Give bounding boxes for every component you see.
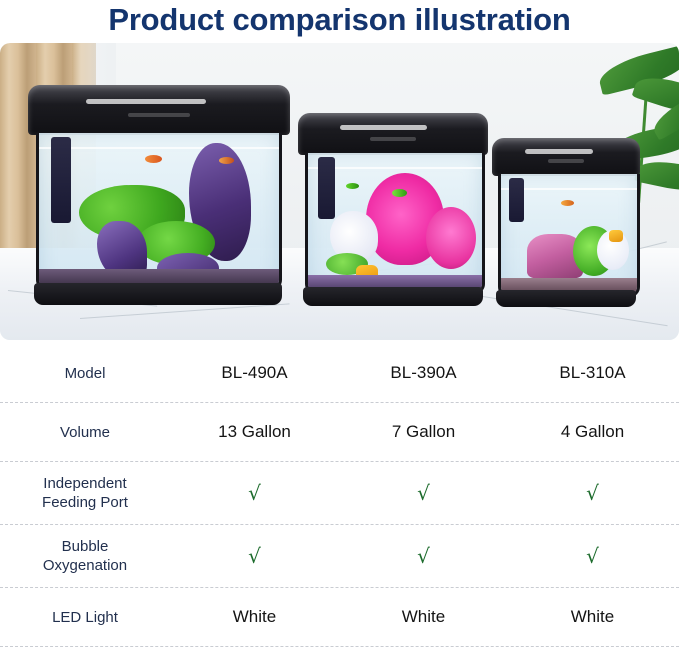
row-label-model: Model — [0, 364, 170, 383]
cell-feeding-port-bl-390a: √ — [339, 481, 508, 505]
tank-filter-pump — [509, 178, 524, 222]
lid-light-glint — [86, 99, 207, 104]
cell-volume-bl-390a: 7 Gallon — [339, 422, 508, 442]
product-comparison-page: Product comparison illustration — [0, 0, 679, 647]
row-label-line-1: Independent — [0, 474, 170, 493]
lid-handle — [128, 113, 191, 117]
tank-lid — [492, 138, 640, 176]
row-label-led-light: LED Light — [0, 608, 170, 627]
lid-light-glint — [525, 149, 593, 154]
tank-filter-pump — [318, 157, 335, 219]
row-label-independent-feeding-port: Independent Feeding Port — [0, 474, 170, 512]
row-label-line-2: Oxygenation — [0, 556, 170, 575]
tank-lid — [298, 113, 488, 155]
cell-bubble-oxygenation-bl-490a: √ — [170, 544, 339, 568]
row-label-bubble-oxygenation: Bubble Oxygenation — [0, 537, 170, 575]
tank-decor-starfish-icon — [609, 230, 623, 242]
tank-fish-icon — [346, 183, 359, 189]
table-row: LED Light White White White — [0, 588, 679, 647]
cell-led-light-bl-310a: White — [508, 607, 677, 627]
cell-bubble-oxygenation-bl-390a: √ — [339, 544, 508, 568]
lid-handle — [548, 159, 584, 163]
water-surface-line — [39, 147, 279, 149]
page-title: Product comparison illustration — [0, 0, 679, 43]
tank-glass — [36, 133, 282, 290]
cell-volume-bl-490a: 13 Gallon — [170, 422, 339, 442]
tank-lid — [28, 85, 290, 135]
row-label-volume: Volume — [0, 423, 170, 442]
tank-decor-pink-coral — [426, 207, 476, 269]
cell-led-light-bl-390a: White — [339, 607, 508, 627]
tank-base — [303, 287, 483, 306]
medium-aquarium-bl-390a — [298, 113, 488, 309]
cell-model-bl-490a: BL-490A — [170, 363, 339, 383]
row-label-line-2: Feeding Port — [0, 493, 170, 512]
tank-base — [34, 283, 282, 305]
table-row: Model BL-490A BL-390A BL-310A — [0, 344, 679, 403]
row-label-line-1: Bubble — [0, 537, 170, 556]
cell-bubble-oxygenation-bl-310a: √ — [508, 544, 677, 568]
tank-fish-icon — [561, 200, 574, 206]
table-row: Bubble Oxygenation √ √ √ — [0, 525, 679, 588]
cell-model-bl-310a: BL-310A — [508, 363, 677, 383]
tank-glass — [305, 153, 485, 294]
cell-volume-bl-310a: 4 Gallon — [508, 422, 677, 442]
spec-comparison-table: Model BL-490A BL-390A BL-310A Volume 13 … — [0, 344, 679, 647]
cell-feeding-port-bl-310a: √ — [508, 481, 677, 505]
large-aquarium-bl-490a — [28, 85, 290, 309]
cell-led-light-bl-490a: White — [170, 607, 339, 627]
product-photo: BL-490A BL-390A — [0, 43, 679, 340]
lid-handle — [370, 137, 416, 141]
tank-fish-icon — [392, 189, 407, 197]
tank-filter-pump — [51, 137, 71, 223]
tank-fish-icon — [145, 155, 162, 163]
cell-model-bl-390a: BL-390A — [339, 363, 508, 383]
tank-base — [496, 290, 636, 307]
table-row: Volume 13 Gallon 7 Gallon 4 Gallon — [0, 403, 679, 462]
cell-feeding-port-bl-490a: √ — [170, 481, 339, 505]
tank-fish-icon — [219, 157, 234, 164]
tank-glass — [498, 174, 640, 297]
lid-light-glint — [340, 125, 427, 130]
table-row: Independent Feeding Port √ √ √ — [0, 462, 679, 525]
small-aquarium-bl-310a — [492, 138, 640, 310]
